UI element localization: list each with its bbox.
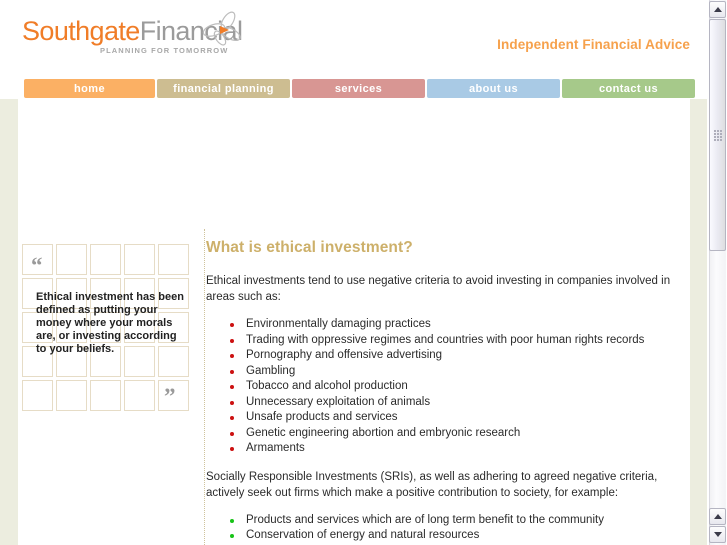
negative-criteria-list: Environmentally damaging practices Tradi… [206, 317, 690, 457]
column-divider [204, 229, 205, 545]
site-header: SouthgateFinancial PLANNING FOR TOMORROW… [0, 0, 690, 76]
background-strip-right [690, 99, 707, 545]
quote-grid-cell [124, 380, 155, 411]
vertical-scrollbar[interactable] [707, 0, 727, 545]
chevron-up-icon [714, 7, 722, 12]
background-strip-left [0, 99, 18, 545]
quote-grid-cell [158, 244, 189, 275]
quote-grid-cell [90, 244, 121, 275]
article-intro-paragraph: Ethical investments tend to use negative… [206, 273, 690, 305]
quote-text: Ethical investment has been defined as p… [36, 291, 186, 356]
quote-grid-cell [124, 244, 155, 275]
scrollbar-up-button[interactable] [709, 1, 726, 18]
list-item: Pornography and offensive advertising [228, 348, 690, 364]
list-item: Conservation of energy and natural resou… [228, 528, 690, 544]
quote-grid-cell [90, 380, 121, 411]
list-item: Armaments [228, 441, 690, 457]
flower-icon [200, 10, 244, 50]
nav-item-about-us[interactable]: about us [427, 79, 560, 98]
list-item: Trading with oppressive regimes and coun… [228, 333, 690, 349]
article: What is ethical investment? Ethical inve… [206, 239, 690, 545]
nav-item-services[interactable]: services [292, 79, 425, 98]
list-item: Genetic engineering abortion and embryon… [228, 426, 690, 442]
list-item: Tobacco and alcohol production [228, 379, 690, 395]
logo-word-southgate: Southgate [22, 16, 140, 46]
page-root: SouthgateFinancial PLANNING FOR TOMORROW… [0, 0, 727, 545]
quote-close-mark: ” [164, 385, 176, 408]
list-item: Products and services which are of long … [228, 513, 690, 529]
chevron-up-icon [714, 514, 722, 519]
scrollbar-up-button-secondary[interactable] [709, 508, 726, 525]
quote-grid-cell [56, 380, 87, 411]
quote-grid-cell [56, 244, 87, 275]
scrollbar-down-button[interactable] [709, 526, 726, 543]
nav-item-contact-us[interactable]: contact us [562, 79, 695, 98]
list-item: Unnecessary exploitation of animals [228, 395, 690, 411]
scrollbar-thumb[interactable] [709, 19, 726, 251]
header-tagline: Independent Financial Advice [497, 37, 690, 52]
quote-grid-cell [22, 380, 53, 411]
site-logo[interactable]: SouthgateFinancial PLANNING FOR TOMORROW [22, 16, 232, 64]
list-item: Environmentally damaging practices [228, 317, 690, 333]
list-item: Gambling [228, 364, 690, 380]
scrollbar-grip-icon [714, 130, 722, 141]
chevron-down-icon [714, 532, 722, 537]
main-navigation: home financial planning services about u… [24, 79, 695, 98]
nav-item-home[interactable]: home [24, 79, 155, 98]
list-item: Unsafe products and services [228, 410, 690, 426]
page-content: “ ” Ethical investment has been defined … [18, 99, 690, 545]
article-sri-paragraph: Socially Responsible Investments (SRIs),… [206, 469, 690, 501]
quote-open-mark: “ [31, 254, 43, 277]
quote-block: “ ” Ethical investment has been defined … [22, 244, 190, 410]
page-title: What is ethical investment? [206, 239, 690, 257]
positive-criteria-list: Products and services which are of long … [206, 513, 690, 544]
nav-item-financial-planning[interactable]: financial planning [157, 79, 290, 98]
quote-grid: “ ” Ethical investment has been defined … [22, 244, 190, 410]
